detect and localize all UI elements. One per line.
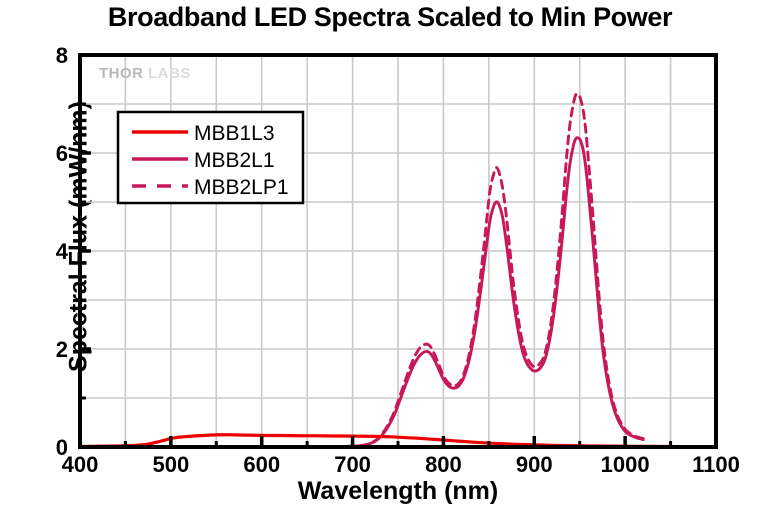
y-tick-label: 6 [56, 141, 68, 166]
x-tick-label: 1000 [601, 452, 650, 477]
chart-figure: Broadband LED Spectra Scaled to Min Powe… [0, 0, 780, 518]
legend-label-MBB1L3: MBB1L3 [194, 122, 275, 145]
y-tick-label: 4 [56, 239, 69, 264]
watermark-thor: THOR [99, 65, 144, 82]
y-tick-label: 0 [56, 435, 68, 460]
legend-label-MBB2L1: MBB2L1 [194, 149, 275, 172]
legend-label-MBB2LP1: MBB2LP1 [194, 176, 289, 199]
chart-legend: MBB1L3MBB2L1MBB2LP1 [118, 112, 303, 203]
x-tick-label: 600 [243, 452, 280, 477]
x-tick-label: 500 [152, 452, 189, 477]
watermark-labs: LABS [148, 65, 191, 82]
y-tick-label: 2 [56, 337, 68, 362]
x-tick-label: 700 [334, 452, 371, 477]
y-tick-label: 8 [56, 43, 68, 68]
x-tick-label: 800 [425, 452, 462, 477]
x-tick-label: 900 [516, 452, 553, 477]
thorlabs-watermark: THORLABS [99, 65, 191, 82]
plot-area: 4005006007008009001000110002468 THORLABS… [0, 0, 780, 518]
x-tick-label: 1100 [692, 452, 740, 477]
